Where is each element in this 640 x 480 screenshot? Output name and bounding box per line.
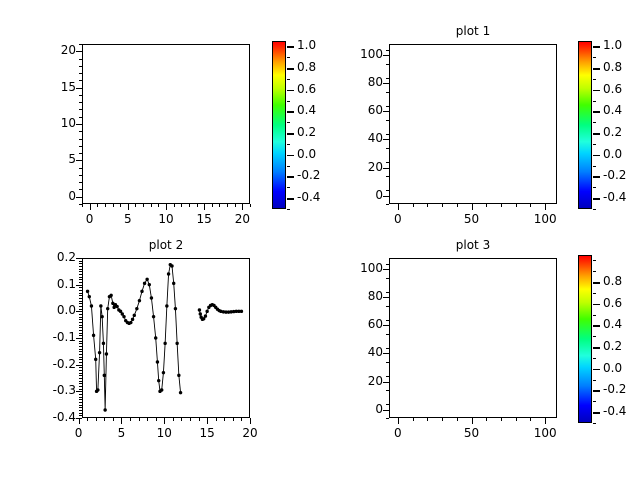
panel-top-left-xminor-tick: [197, 204, 198, 207]
panel-bottom-right-yticklabel: 100: [341, 261, 383, 275]
panel-top-right-cb-minor-tick: [593, 187, 596, 188]
panel-top-left-yminor-tick: [79, 109, 82, 110]
panel-top-left-xminor-tick: [212, 204, 213, 207]
panel-top-right-xtick: [472, 204, 473, 210]
panel-bottom-left-xticklabel: 0: [59, 426, 99, 440]
panel-top-left-cb-ticklabel: 0.2: [297, 125, 339, 139]
panel-top-left-yminor-tick: [79, 189, 82, 190]
panel-bottom-right-xtick: [472, 418, 473, 424]
panel-top-right-xticklabel: 0: [378, 212, 418, 226]
panel-top-right-cb-tick: [593, 155, 600, 157]
panel-bottom-right-cb-minor-tick: [593, 293, 596, 294]
panel-bottom-right-yminor-tick: [386, 362, 389, 363]
panel-top-right-xminor-tick: [516, 204, 517, 207]
panel-bottom-right-xminor-tick: [530, 418, 531, 421]
panel-top-left-colorbar: [272, 41, 286, 209]
panel-bottom-left-yticklabel: 0.2: [34, 250, 76, 264]
panel-bottom-left-xminor-tick: [113, 418, 114, 421]
panel-bottom-right-cb-ticklabel: 0.8: [603, 274, 640, 288]
panel-bottom-left-xminor-tick: [233, 418, 234, 421]
panel-bottom-right-yticklabel: 20: [341, 374, 383, 388]
panel-bottom-right-cb-minor-tick: [593, 260, 596, 261]
panel-top-left-xminor-tick: [250, 204, 251, 207]
panel-top-right-cb-minor-tick: [593, 57, 596, 58]
panel-bottom-left-yticklabel: 0.1: [34, 277, 76, 291]
panel-top-right-yminor-tick: [386, 162, 389, 163]
panel-top-right-yminor-tick: [386, 92, 389, 93]
panel-top-right-yminor-tick: [386, 176, 389, 177]
panel-top-left-yticklabel: 0: [34, 189, 76, 203]
panel-top-right-yticklabel: 20: [341, 160, 383, 174]
panel-top-right-cb-tick: [593, 68, 600, 70]
panel-top-right-cb-tick: [593, 176, 600, 178]
panel-top-right-ytick: [383, 83, 389, 84]
panel-top-right-xticklabel: 50: [452, 212, 492, 226]
panel-top-right-yminor-tick: [386, 50, 389, 51]
panel-bottom-right-yminor-tick: [386, 278, 389, 279]
panel-top-right-cb-minor-tick: [593, 79, 596, 80]
panel-top-left-yminor-tick: [79, 146, 82, 147]
panel-bottom-left-title: plot 2: [82, 238, 250, 252]
panel-top-right-ytick: [383, 168, 389, 169]
panel-top-right-xtick: [545, 204, 546, 210]
panel-bottom-left-xtick: [207, 418, 208, 424]
panel-bottom-right-cb-ticklabel: 0.0: [603, 361, 640, 375]
panel-top-left-yticklabel: 10: [34, 116, 76, 130]
panel-top-left-xminor-tick: [113, 204, 114, 207]
panel-bottom-right-xtick: [545, 418, 546, 424]
panel-bottom-left-yticklabel: -0.3: [34, 383, 76, 397]
panel-top-left-cb-tick: [287, 155, 294, 157]
panel-bottom-right-cb-minor-tick: [593, 380, 596, 381]
panel-top-left-yminor-tick: [79, 182, 82, 183]
panel-top-left-ytick: [76, 197, 82, 198]
panel-top-right-xminor-tick: [442, 204, 443, 207]
panel-bottom-right-yminor-tick: [386, 320, 389, 321]
panel-top-right-cb-ticklabel: 0.2: [603, 125, 640, 139]
panel-bottom-right-cb-minor-tick: [593, 401, 596, 402]
panel-bottom-left-xminor-tick: [139, 418, 140, 421]
panel-top-right-ytick: [383, 55, 389, 56]
panel-bottom-left-xticklabel: 5: [101, 426, 141, 440]
panel-top-left-ytick: [76, 160, 82, 161]
panel-bottom-left-xticklabel: 20: [230, 426, 270, 440]
panel-top-left-cb-tick: [287, 133, 294, 135]
panel-top-right-cb-ticklabel: -0.4: [603, 190, 640, 204]
panel-top-left-xticklabel: 10: [146, 212, 186, 226]
panel-top-left-yminor-tick: [79, 168, 82, 169]
panel-top-right-cb-tick: [593, 90, 600, 92]
panel-top-right-colorbar: [578, 41, 592, 209]
panel-bottom-left-xminor-tick: [130, 418, 131, 421]
panel-top-right-cb-minor-tick: [593, 101, 596, 102]
panel-top-right-cb-ticklabel: 1.0: [603, 38, 640, 52]
panel-top-left-cb-ticklabel: 0.8: [297, 60, 339, 74]
panel-bottom-left-xminor-tick: [147, 418, 148, 421]
panel-top-right-cb-ticklabel: 0.0: [603, 147, 640, 161]
panel-top-right-yminor-tick: [386, 148, 389, 149]
panel-bottom-right-xminor-tick: [486, 418, 487, 421]
panel-bottom-right-cb-tick: [593, 412, 600, 414]
panel-bottom-right-yminor-tick: [386, 404, 389, 405]
panel-bottom-left-yticklabel: 0.0: [34, 303, 76, 317]
panel-bottom-left-xminor-tick: [224, 418, 225, 421]
panel-top-left-cb-ticklabel: 1.0: [297, 38, 339, 52]
panel-top-left-xminor-tick: [120, 204, 121, 207]
panel-top-right-cb-ticklabel: 0.4: [603, 103, 640, 117]
panel-top-left-yminor-tick: [79, 59, 82, 60]
figure-canvas: 05101520051015201.00.80.60.40.20.0-0.2-0…: [0, 0, 640, 480]
panel-bottom-left-xminor-tick: [96, 418, 97, 421]
panel-bottom-right-ytick: [383, 382, 389, 383]
panel-top-left-cb-tick: [287, 176, 294, 178]
panel-top-left-yminor-tick: [79, 80, 82, 81]
panel-top-right-xminor-tick: [486, 204, 487, 207]
panel-bottom-right-cb-ticklabel: -0.2: [603, 382, 640, 396]
panel-top-left-cb-tick: [287, 46, 294, 48]
panel-top-left-axes-frame: [82, 44, 250, 204]
panel-top-right-cb-tick: [593, 46, 600, 48]
panel-bottom-right-cb-minor-tick: [593, 358, 596, 359]
panel-top-left-xminor-tick: [143, 204, 144, 207]
panel-top-right-yminor-tick: [386, 120, 389, 121]
panel-bottom-right-xminor-tick: [413, 418, 414, 421]
panel-top-left-ytick: [76, 88, 82, 89]
panel-top-right-cb-tick: [593, 198, 600, 200]
panel-top-right-cb-minor-tick: [593, 144, 596, 145]
panel-top-left-cb-minor-tick: [287, 79, 290, 80]
panel-top-right-ytick: [383, 139, 389, 140]
panel-top-right-yminor-tick: [386, 106, 389, 107]
panel-bottom-right-ytick: [383, 353, 389, 354]
panel-bottom-right-cb-minor-tick: [593, 423, 596, 424]
panel-bottom-left-xminor-tick: [181, 418, 182, 421]
panel-bottom-right-title: plot 3: [389, 238, 557, 252]
panel-top-left-xminor-tick: [151, 204, 152, 207]
panel-bottom-right-yminor-tick: [386, 334, 389, 335]
panel-bottom-right-cb-ticklabel: 0.4: [603, 317, 640, 331]
panel-top-right-yticklabel: 40: [341, 131, 383, 145]
panel-top-right-yticklabel: 80: [341, 75, 383, 89]
panel-top-left-yminor-tick: [79, 66, 82, 67]
panel-bottom-right-yminor-tick: [386, 306, 389, 307]
panel-top-left-ytick: [76, 124, 82, 125]
panel-top-left-yminor-tick: [79, 73, 82, 74]
panel-bottom-right-xticklabel: 0: [378, 426, 418, 440]
panel-top-left-yticklabel: 5: [34, 152, 76, 166]
panel-bottom-left-yticklabel: -0.2: [34, 357, 76, 371]
panel-bottom-left-xminor-tick: [87, 418, 88, 421]
panel-top-left-xminor-tick: [174, 204, 175, 207]
panel-top-left-xtick: [242, 204, 243, 210]
panel-top-right-xminor-tick: [427, 204, 428, 207]
panel-top-left-xticklabel: 0: [70, 212, 110, 226]
panel-top-left-xminor-tick: [135, 204, 136, 207]
panel-top-left-xtick: [128, 204, 129, 210]
panel-bottom-right-xtick: [398, 418, 399, 424]
panel-top-left-cb-tick: [287, 90, 294, 92]
panel-bottom-right-yticklabel: 60: [341, 317, 383, 331]
panel-bottom-left-ytick: [76, 418, 82, 419]
panel-top-left-yticklabel: 20: [34, 43, 76, 57]
panel-top-left-xminor-tick: [219, 204, 220, 207]
panel-bottom-right-yminor-tick: [386, 390, 389, 391]
panel-top-right-xminor-tick: [530, 204, 531, 207]
panel-bottom-right-cb-tick: [593, 347, 600, 349]
panel-top-left-yticklabel: 15: [34, 80, 76, 94]
panel-top-left-xminor-tick: [181, 204, 182, 207]
panel-top-left-cb-ticklabel: 0.4: [297, 103, 339, 117]
panel-top-right-xminor-tick: [413, 204, 414, 207]
panel-bottom-right-cb-tick: [593, 325, 600, 327]
panel-top-left-xminor-tick: [105, 204, 106, 207]
panel-top-left-cb-ticklabel: 0.6: [297, 82, 339, 96]
panel-bottom-right-yticklabel: 80: [341, 289, 383, 303]
panel-bottom-left-xticklabel: 15: [187, 426, 227, 440]
panel-bottom-left-xtick: [250, 418, 251, 424]
panel-top-left-xticklabel: 15: [184, 212, 224, 226]
panel-top-right-cb-minor-tick: [593, 166, 596, 167]
panel-bottom-right-yminor-tick: [386, 376, 389, 377]
panel-bottom-right-cb-ticklabel: 0.2: [603, 339, 640, 353]
panel-top-right-cb-ticklabel: 0.6: [603, 82, 640, 96]
panel-top-left-yminor-tick: [79, 153, 82, 154]
panel-top-left-yminor-tick: [79, 117, 82, 118]
panel-bottom-right-cb-minor-tick: [593, 315, 596, 316]
panel-top-right-yticklabel: 0: [341, 188, 383, 202]
panel-top-left-xticklabel: 5: [108, 212, 148, 226]
panel-bottom-left-xtick: [164, 418, 165, 424]
panel-top-left-colorbar-gradient: [273, 42, 285, 208]
panel-top-left-cb-minor-tick: [287, 144, 290, 145]
panel-top-right-xminor-tick: [457, 204, 458, 207]
panel-bottom-right-xminor-tick: [442, 418, 443, 421]
panel-bottom-left-xminor-tick: [173, 418, 174, 421]
panel-top-right-cb-minor-tick: [593, 209, 596, 210]
panel-bottom-right-cb-tick: [593, 304, 600, 306]
panel-bottom-left-xminor-tick: [199, 418, 200, 421]
panel-bottom-left-xticklabel: 10: [144, 426, 184, 440]
panel-top-left-xtick: [166, 204, 167, 210]
panel-top-right-cb-ticklabel: -0.2: [603, 168, 640, 182]
panel-bottom-left-xminor-tick: [104, 418, 105, 421]
panel-top-left-ytick: [76, 51, 82, 52]
panel-bottom-right-yminor-tick: [386, 418, 389, 419]
panel-top-left-cb-minor-tick: [287, 166, 290, 167]
panel-bottom-left-line-series: [82, 258, 250, 418]
panel-bottom-right-yminor-tick: [386, 264, 389, 265]
panel-bottom-left-xminor-tick: [241, 418, 242, 421]
panel-bottom-left-xminor-tick: [216, 418, 217, 421]
panel-bottom-right-xminor-tick: [457, 418, 458, 421]
panel-bottom-right-cb-tick: [593, 282, 600, 284]
panel-top-left-yminor-tick: [79, 131, 82, 132]
panel-top-right-xminor-tick: [501, 204, 502, 207]
panel-top-left-cb-minor-tick: [287, 57, 290, 58]
panel-top-left-yminor-tick: [79, 139, 82, 140]
panel-top-right-yminor-tick: [386, 190, 389, 191]
panel-top-left-yminor-tick: [79, 204, 82, 205]
panel-top-right-cb-minor-tick: [593, 122, 596, 123]
panel-top-left-xminor-tick: [82, 204, 83, 207]
panel-bottom-right-xminor-tick: [501, 418, 502, 421]
panel-top-left-xminor-tick: [227, 204, 228, 207]
panel-top-left-xminor-tick: [158, 204, 159, 207]
panel-top-left-xminor-tick: [97, 204, 98, 207]
panel-top-right-xticklabel: 100: [525, 212, 565, 226]
panel-bottom-right-yticklabel: 0: [341, 402, 383, 416]
panel-top-left-cb-tick: [287, 111, 294, 113]
panel-top-left-xtick: [204, 204, 205, 210]
panel-top-left-cb-tick: [287, 198, 294, 200]
panel-bottom-right-xminor-tick: [427, 418, 428, 421]
panel-bottom-left-yticklabel: -0.4: [34, 410, 76, 424]
panel-top-right-ytick: [383, 196, 389, 197]
panel-top-left-cb-minor-tick: [287, 187, 290, 188]
panel-bottom-left-xminor-tick: [156, 418, 157, 421]
panel-top-left-cb-minor-tick: [287, 122, 290, 123]
panel-top-right-cb-tick: [593, 111, 600, 113]
panel-bottom-right-yticklabel: 40: [341, 345, 383, 359]
panel-top-left-cb-ticklabel: 0.0: [297, 147, 339, 161]
panel-top-left-xtick: [90, 204, 91, 210]
panel-bottom-right-cb-minor-tick: [593, 336, 596, 337]
panel-bottom-right-ytick: [383, 410, 389, 411]
panel-bottom-left-yticklabel: -0.1: [34, 330, 76, 344]
panel-top-right-ytick: [383, 111, 389, 112]
panel-top-left-yminor-tick: [79, 175, 82, 176]
panel-bottom-right-xminor-tick: [516, 418, 517, 421]
panel-bottom-right-yminor-tick: [386, 292, 389, 293]
panel-bottom-right-cb-tick: [593, 369, 600, 371]
panel-bottom-right-ytick: [383, 269, 389, 270]
panel-bottom-right-colorbar: [578, 255, 592, 423]
panel-bottom-right-xticklabel: 50: [452, 426, 492, 440]
panel-bottom-right-cb-ticklabel: -0.4: [603, 404, 640, 418]
panel-bottom-right-colorbar-gradient: [579, 256, 591, 422]
panel-top-left-yminor-tick: [79, 44, 82, 45]
panel-top-left-yminor-tick: [79, 102, 82, 103]
panel-bottom-right-cb-tick: [593, 390, 600, 392]
panel-bottom-right-ytick: [383, 325, 389, 326]
panel-top-right-yticklabel: 100: [341, 47, 383, 61]
panel-top-right-xtick: [398, 204, 399, 210]
panel-top-right-yminor-tick: [386, 78, 389, 79]
panel-bottom-left-xminor-tick: [190, 418, 191, 421]
panel-top-right-yticklabel: 60: [341, 103, 383, 117]
panel-top-right-yminor-tick: [386, 64, 389, 65]
panel-bottom-left-xtick: [121, 418, 122, 424]
panel-top-left-xticklabel: 20: [222, 212, 262, 226]
panel-top-right-colorbar-gradient: [579, 42, 591, 208]
panel-top-left-yminor-tick: [79, 95, 82, 96]
panel-top-right-axes-frame: [389, 44, 557, 204]
panel-bottom-right-cb-minor-tick: [593, 271, 596, 272]
panel-top-left-cb-minor-tick: [287, 101, 290, 102]
panel-bottom-right-cb-ticklabel: 0.6: [603, 296, 640, 310]
panel-top-right-yminor-tick: [386, 134, 389, 135]
panel-bottom-right-axes-frame: [389, 258, 557, 418]
panel-top-right-yminor-tick: [386, 204, 389, 205]
panel-bottom-right-ytick: [383, 297, 389, 298]
panel-top-left-cb-minor-tick: [287, 209, 290, 210]
panel-top-right-cb-ticklabel: 0.8: [603, 60, 640, 74]
panel-top-right-title: plot 1: [389, 24, 557, 38]
panel-top-left-cb-ticklabel: -0.4: [297, 190, 339, 204]
panel-bottom-right-yminor-tick: [386, 348, 389, 349]
panel-bottom-right-xticklabel: 100: [525, 426, 565, 440]
panel-top-left-xminor-tick: [189, 204, 190, 207]
panel-top-left-cb-tick: [287, 68, 294, 70]
panel-top-right-cb-tick: [593, 133, 600, 135]
panel-top-left-cb-ticklabel: -0.2: [297, 168, 339, 182]
panel-top-left-xminor-tick: [235, 204, 236, 207]
